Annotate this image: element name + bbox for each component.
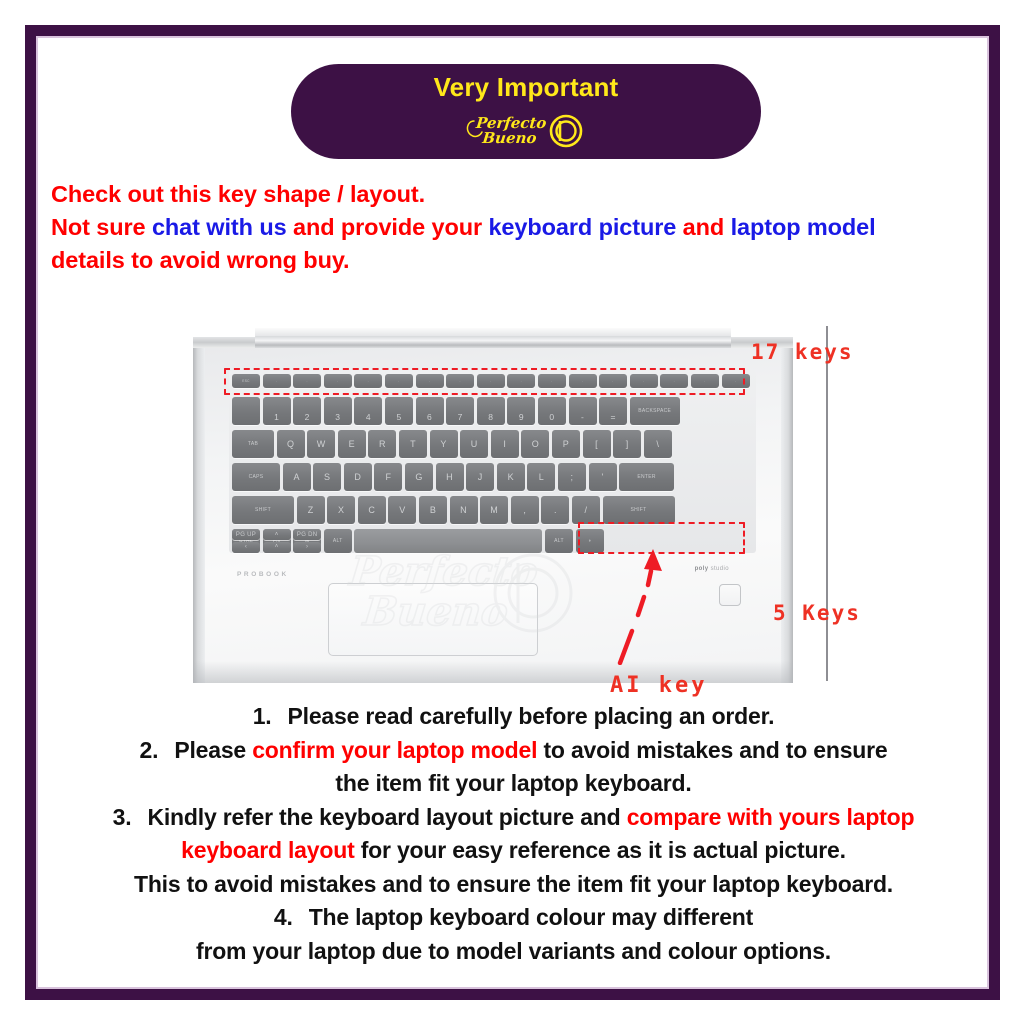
- svg-text:Bueno: Bueno: [481, 129, 538, 147]
- intro-line-2: Not sure chat with us and provide your k…: [51, 211, 981, 244]
- hinge-notch-left: [193, 328, 255, 337]
- ai-key-pointer-arrow: [558, 545, 678, 665]
- key-f: F: [374, 463, 402, 491]
- deck-edge-right: [781, 348, 793, 683]
- note-2-line-1: 2.Please confirm your laptop model to av…: [46, 734, 981, 768]
- key-h: H: [436, 463, 464, 491]
- intro-paragraph: Check out this key shape / layout. Not s…: [51, 178, 981, 277]
- note-3-line-1: 3.Kindly refer the keyboard layout pictu…: [46, 801, 981, 835]
- note-4-line-1: 4.The laptop keyboard colour may differe…: [46, 901, 981, 935]
- key-e: E: [338, 430, 366, 458]
- key-2: 2: [293, 397, 321, 425]
- note-3-line-2: keyboard layout for your easy reference …: [46, 834, 981, 868]
- intro-line-1: Check out this key shape / layout.: [51, 178, 981, 211]
- key-arrow-top-2: ˄: [263, 529, 291, 540]
- annotation-17-keys: 17 keys: [751, 340, 854, 364]
- key-3: 3: [324, 397, 352, 425]
- key-a: A: [283, 463, 311, 491]
- key-b: B: [419, 496, 447, 524]
- key-m: M: [480, 496, 508, 524]
- deck-edge-left: [193, 348, 205, 683]
- key-arrow-bottom-2: ˄: [263, 542, 291, 553]
- arrow-col-2: ˄˄: [263, 529, 291, 553]
- key--: \: [644, 430, 672, 458]
- key-l: L: [527, 463, 555, 491]
- key-r: R: [368, 430, 396, 458]
- key-enter: ENTER: [619, 463, 674, 491]
- vertical-divider: [826, 326, 828, 681]
- key-row-space: CTRLFN⊞ALTALT◑PG UP‹˄˄PG DN›: [232, 529, 604, 553]
- key-w: W: [307, 430, 335, 458]
- key-6: 6: [416, 397, 444, 425]
- key-z: Z: [297, 496, 325, 524]
- fingerprint-reader: [719, 584, 741, 606]
- annotation-ai-key: AI key: [610, 673, 707, 698]
- key--: ;: [558, 463, 586, 491]
- key-alt: ALT: [324, 529, 352, 553]
- key-row-shift: SHIFTZXCVBNM,./SHIFT: [232, 496, 675, 524]
- key-y: Y: [430, 430, 458, 458]
- intro-line-3: details to avoid wrong buy.: [51, 244, 981, 277]
- annotation-5-keys: 5 Keys: [773, 601, 861, 625]
- note-1: 1.Please read carefully before placing a…: [46, 700, 981, 734]
- note-3-line-3: This to avoid mistakes and to ensure the…: [46, 868, 981, 902]
- key-d: D: [344, 463, 372, 491]
- hinge-notch-right: [731, 328, 793, 337]
- key-c: C: [358, 496, 386, 524]
- key-i: I: [491, 430, 519, 458]
- arrow-key-cluster: PG UP‹˄˄PG DN›: [232, 529, 321, 553]
- key--: /: [572, 496, 600, 524]
- content-area: Very Important Perfecto Bueno: [38, 38, 987, 987]
- keyboard-illustration: ESC∙∙∙∙∙∙∙∙∙∙∙∙∙∙∙∙ 1234567890-=BACKSPAC…: [38, 283, 987, 688]
- key-x: X: [327, 496, 355, 524]
- key-row-home: CAPSASDFGHJKL;'ENTER: [232, 463, 674, 491]
- probook-branding: PROBOOK: [237, 571, 289, 578]
- key-shift: SHIFT: [603, 496, 675, 524]
- key-0: 0: [538, 397, 566, 425]
- key-q: Q: [277, 430, 305, 458]
- key-arrow-top-3: PG DN: [293, 529, 321, 540]
- brand-script-text: Perfecto Bueno: [462, 105, 590, 151]
- key-u: U: [460, 430, 488, 458]
- key-spacebar: [354, 529, 542, 553]
- key-v: V: [388, 496, 416, 524]
- key-9: 9: [507, 397, 535, 425]
- page-title: Very Important: [434, 73, 619, 103]
- key-o: O: [521, 430, 549, 458]
- key-arrow-bottom-1: ‹: [232, 542, 260, 553]
- key-j: J: [466, 463, 494, 491]
- key-tab: TAB: [232, 430, 274, 458]
- key-7: 7: [446, 397, 474, 425]
- key--: [: [583, 430, 611, 458]
- key-4: 4: [354, 397, 382, 425]
- note-2-line-2: the item fit your laptop keyboard.: [46, 767, 981, 801]
- key-g: G: [405, 463, 433, 491]
- key-arrow-top-1: PG UP: [232, 529, 260, 540]
- key-5: 5: [385, 397, 413, 425]
- key-t: T: [399, 430, 427, 458]
- key-arrow-bottom-3: ›: [293, 542, 321, 553]
- arrow-col-3: PG DN›: [293, 529, 321, 553]
- key-shift: SHIFT: [232, 496, 294, 524]
- dashed-box-function-row: [224, 368, 745, 395]
- poly-studio-label: poly studio: [695, 566, 729, 572]
- key-n: N: [450, 496, 478, 524]
- key-k: K: [497, 463, 525, 491]
- arrow-col-1: PG UP‹: [232, 529, 260, 553]
- key-1: 1: [263, 397, 291, 425]
- key-blank: [232, 397, 260, 425]
- key--: =: [599, 397, 627, 425]
- page-root: Very Important Perfecto Bueno: [0, 0, 1024, 1024]
- laptop-hinge: [193, 328, 793, 348]
- notes-list: 1.Please read carefully before placing a…: [46, 700, 981, 968]
- note-4-line-2: from your laptop due to model variants a…: [46, 935, 981, 969]
- header-banner: Very Important Perfecto Bueno: [291, 64, 761, 159]
- key-s: S: [313, 463, 341, 491]
- brand-logo: Perfecto Bueno: [462, 105, 590, 151]
- key-row-number: 1234567890-=BACKSPACE: [232, 397, 680, 425]
- key--: ,: [511, 496, 539, 524]
- chat-with-us-link[interactable]: chat with us: [152, 214, 287, 240]
- key--: ]: [613, 430, 641, 458]
- trackpad: [328, 583, 538, 656]
- key--: .: [541, 496, 569, 524]
- key-caps: CAPS: [232, 463, 280, 491]
- key--: ': [589, 463, 617, 491]
- key-8: 8: [477, 397, 505, 425]
- key--: -: [569, 397, 597, 425]
- key-p: P: [552, 430, 580, 458]
- key-backspace: BACKSPACE: [630, 397, 680, 425]
- key-row-qwerty: TABQWERTYUIOP[]\: [232, 430, 672, 458]
